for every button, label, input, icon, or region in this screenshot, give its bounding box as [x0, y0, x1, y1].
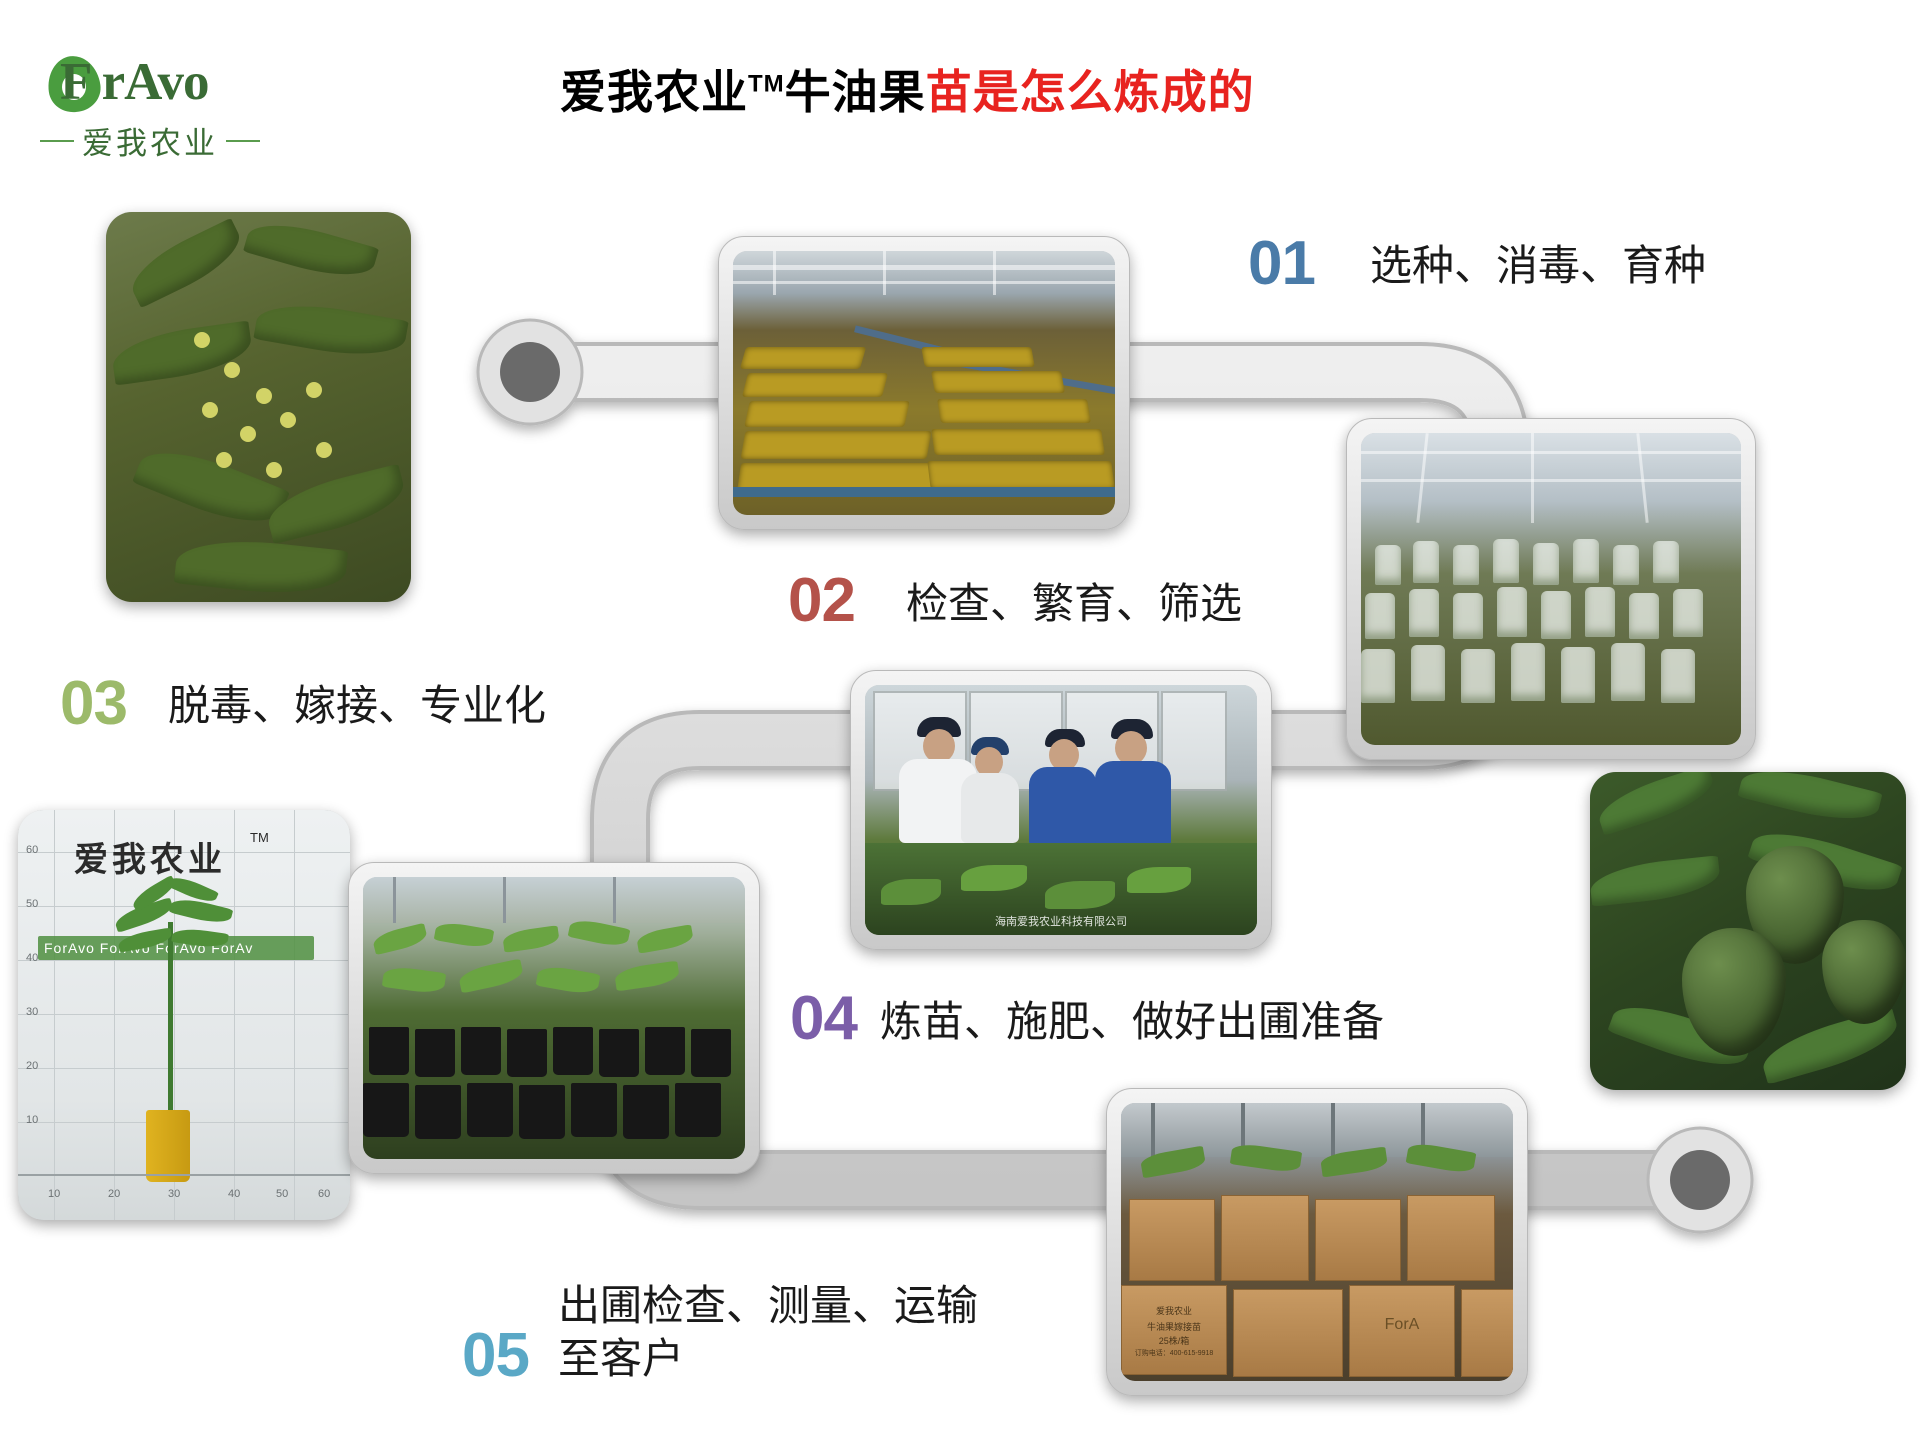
box-line4: 订购电话：400-615-9918 — [1122, 1348, 1226, 1358]
photo-avocado-fruit-on-tree — [1590, 772, 1906, 1090]
step-label-03: 脱毒、嫁接、专业化 — [168, 680, 546, 733]
logo-wordmark: F rAvo — [60, 52, 209, 112]
photo-avocado-flowering-branch — [106, 212, 411, 602]
logo-rule-left — [40, 140, 74, 142]
step-label-04: 炼苗、施肥、做好出圃准备 — [880, 996, 1384, 1049]
box-line2: 牛油果嫁接苗 — [1122, 1320, 1226, 1333]
photo-packing-boxes: 爱我农业 牛油果嫁接苗 25株/箱 订购电话：400-615-9918 ForA — [1106, 1088, 1528, 1396]
step-label-02: 检查、繁育、筛选 — [906, 578, 1242, 631]
brand-logo: F rAvo 爱我农业 — [40, 30, 330, 145]
photo-nursery-grafting-bags — [1346, 418, 1756, 760]
title-middle: 牛油果 — [785, 66, 926, 118]
page-title: 爱我农业TM牛油果苗是怎么炼成的 — [560, 56, 1255, 122]
step-label-01: 选种、消毒、育种 — [1370, 240, 1706, 293]
step-number-03: 03 — [60, 668, 127, 739]
photo-watermark: 海南爱我农业科技有限公司 — [995, 913, 1127, 929]
ribbon-start-cap — [500, 342, 560, 402]
box-brand: 爱我农业 — [1122, 1304, 1226, 1317]
step-number-04: 04 — [790, 983, 857, 1054]
photo-potted-seedling-rows — [348, 862, 760, 1174]
step-label-05: 出圃检查、测量、运输 至客户 — [558, 1280, 978, 1385]
board-brand-tm: TM — [250, 830, 269, 845]
title-tm: TM — [748, 71, 785, 98]
title-highlight: 苗是怎么炼成的 — [926, 66, 1255, 118]
board-brand-cn: 爱我农业 — [74, 832, 226, 881]
logo-chinese-wrap: 爱我农业 — [40, 118, 330, 163]
photo-greenhouse-seed-trays — [718, 236, 1130, 530]
step-number-05: 05 — [462, 1320, 529, 1391]
title-prefix: 爱我农业 — [560, 66, 748, 118]
ribbon-end-cap — [1670, 1150, 1730, 1210]
step-number-02: 02 — [788, 565, 855, 636]
step-number-01: 01 — [1248, 228, 1315, 299]
box-side-text: ForA — [1350, 1316, 1454, 1334]
box-line3: 25株/箱 — [1122, 1334, 1226, 1347]
logo-rule-right — [226, 140, 260, 142]
photo-measured-seedling: 爱我农业 TM ForAvo ForAvo ForAvo ForAv 60 50… — [18, 810, 350, 1220]
photo-staff-inspecting-seedlings: 海南爱我农业科技有限公司 — [850, 670, 1272, 950]
logo-chinese: 爱我农业 — [74, 118, 226, 163]
